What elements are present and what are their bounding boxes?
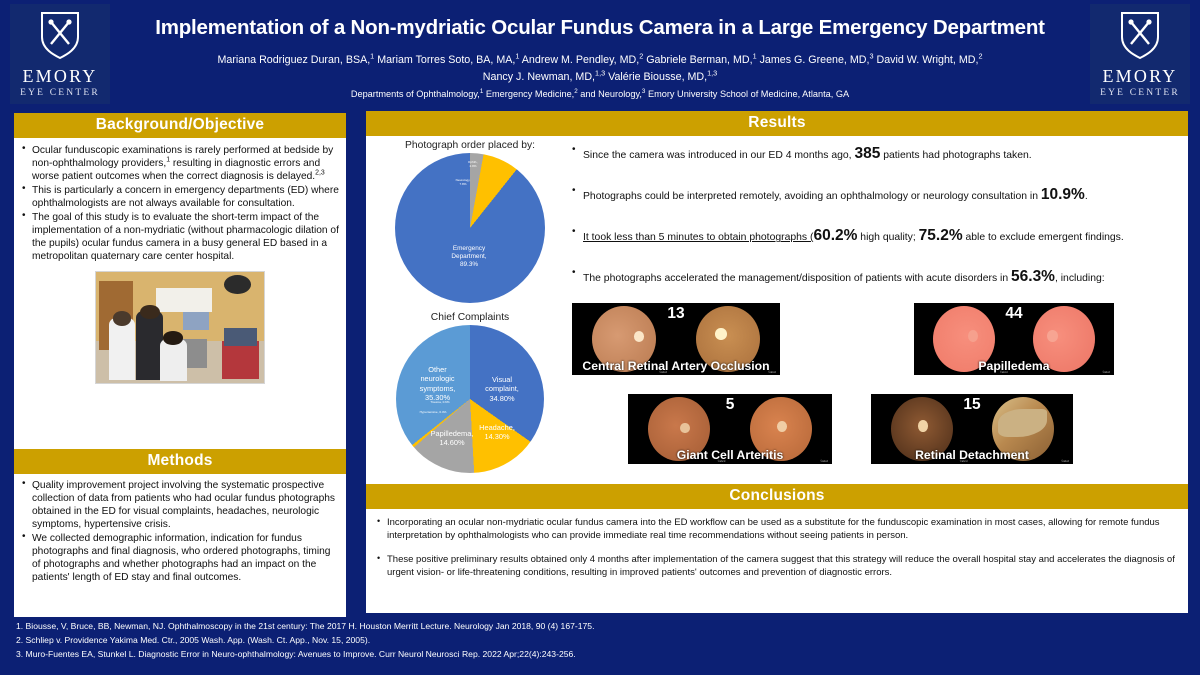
list-item: Photographs could be interpreted remotel… bbox=[570, 185, 1180, 205]
poster-departments: Departments of Ophthalmology,1 Emergency… bbox=[120, 89, 1080, 99]
result-2-post: . bbox=[1085, 191, 1088, 202]
background-bullet-list: Ocular funduscopic examinations is rarel… bbox=[21, 144, 339, 263]
fundus-count-rd: 15 bbox=[871, 396, 1073, 414]
poster-root: EMORY EYE CENTER EMORY EYE CENTER Implem… bbox=[0, 0, 1200, 675]
pie-chart-chief-complaints: Visualcomplaint,34.80% Otherneurologicsy… bbox=[396, 325, 544, 473]
fundus-label-rd: Retinal Detachment bbox=[871, 448, 1073, 462]
reference-item: 3. Muro-Fuentes EA, Stunkel L. Diagnosti… bbox=[16, 648, 916, 662]
list-item: These positive preliminary results obtai… bbox=[375, 553, 1179, 579]
results-bullet-list: Since the camera was introduced in our E… bbox=[570, 144, 1180, 309]
fundus-card-crao: 13 Central Retinal Artery Occlusion ©abc… bbox=[572, 303, 780, 375]
poster-authors: Mariana Rodriguez Duran, BSA,1 Mariam To… bbox=[120, 52, 1080, 85]
clinical-room-photo bbox=[95, 271, 265, 384]
pie-chart-1-title: Photograph order placed by: bbox=[372, 140, 568, 151]
list-item: Since the camera was introduced in our E… bbox=[570, 144, 1180, 164]
result-2-pre: Photographs could be interpreted remotel… bbox=[583, 191, 1041, 202]
conclusions-body: Incorporating an ocular non-mydriatic oc… bbox=[366, 509, 1188, 613]
pie-chart-order-placed-by: EmergencyDepartment,89.3% Neurology,7.8%… bbox=[395, 153, 545, 303]
list-item: This is particularly a concern in emerge… bbox=[21, 184, 339, 210]
fundus-label-crao: Central Retinal Artery Occlusion bbox=[572, 359, 780, 373]
result-3-mid: high quality; bbox=[857, 232, 918, 243]
result-3-post: able to exclude emergent findings. bbox=[963, 232, 1124, 243]
background-panel: Background/Objective Ocular funduscopic … bbox=[14, 113, 346, 455]
results-body: Photograph order placed by: EmergencyDep… bbox=[366, 136, 1188, 498]
references-block: 1. Biousse, V, Bruce, BB, Newman, NJ. Op… bbox=[16, 620, 916, 662]
fundus-card-gca: 5 Giant Cell Arteritis ©abcd©abcd bbox=[628, 394, 832, 464]
emory-logo-left: EMORY EYE CENTER bbox=[10, 4, 110, 104]
fundus-card-retinal-detachment: 15 Retinal Detachment ©abcd©abcd bbox=[871, 394, 1073, 464]
poster-title: Implementation of a Non-mydriatic Ocular… bbox=[120, 16, 1080, 40]
emory-shield-icon bbox=[39, 10, 81, 60]
authors-line-2: Nancy J. Newman, MD,1,3 Valérie Biousse,… bbox=[120, 69, 1080, 86]
list-item: The goal of this study is to evaluate th… bbox=[21, 211, 339, 263]
methods-panel: Methods Quality improvement project invo… bbox=[14, 449, 346, 617]
background-body: Ocular funduscopic examinations is rarel… bbox=[14, 138, 346, 455]
fundus-label-gca: Giant Cell Arteritis bbox=[628, 448, 832, 462]
emory-wordmark-right: EMORY bbox=[1102, 67, 1177, 85]
methods-bullet-list: Quality improvement project involving th… bbox=[21, 479, 339, 584]
emory-shield-icon-right bbox=[1119, 10, 1161, 60]
result-1-post: patients had photographs taken. bbox=[880, 150, 1031, 161]
poster-header: EMORY EYE CENTER EMORY EYE CENTER Implem… bbox=[0, 0, 1200, 110]
list-item: We collected demographic information, in… bbox=[21, 532, 339, 584]
pie-charts-column: Photograph order placed by: EmergencyDep… bbox=[372, 140, 568, 473]
result-4-value: 56.3% bbox=[1011, 268, 1055, 285]
reference-item: 2. Schliep v. Providence Yakima Med. Ctr… bbox=[16, 634, 916, 648]
reference-item: 1. Biousse, V, Bruce, BB, Newman, NJ. Op… bbox=[16, 620, 916, 634]
emory-wordmark-left: EMORY bbox=[22, 67, 97, 85]
conclusions-bullet-list: Incorporating an ocular non-mydriatic oc… bbox=[375, 516, 1179, 579]
result-2-value: 10.9% bbox=[1041, 186, 1085, 203]
result-4-post: , including: bbox=[1055, 273, 1105, 284]
methods-body: Quality improvement project involving th… bbox=[14, 474, 346, 617]
fundus-card-papilledema: 44 Papilledema ©abcd©abcd bbox=[914, 303, 1114, 375]
fundus-count-crao: 13 bbox=[572, 305, 780, 323]
pie-1-graphic bbox=[395, 153, 545, 303]
results-heading: Results bbox=[366, 111, 1188, 136]
results-panel: Results Photograph order placed by: Emer… bbox=[366, 111, 1188, 498]
result-1-value: 385 bbox=[854, 145, 880, 162]
conclusions-heading: Conclusions bbox=[366, 484, 1188, 509]
fundus-count-papilledema: 44 bbox=[914, 305, 1114, 323]
pie-2-graphic bbox=[396, 325, 544, 473]
pie-chart-2-title: Chief Complaints bbox=[372, 312, 568, 323]
fundus-label-papilledema: Papilledema bbox=[914, 359, 1114, 373]
list-item: The photographs accelerated the manageme… bbox=[570, 267, 1180, 287]
result-3-pre: It took less than 5 minutes to obtain ph… bbox=[583, 232, 813, 243]
emory-logo-right: EMORY EYE CENTER bbox=[1090, 4, 1190, 104]
list-item: Ocular funduscopic examinations is rarel… bbox=[21, 144, 339, 183]
result-4-pre: The photographs accelerated the manageme… bbox=[583, 273, 1011, 284]
list-item: Quality improvement project involving th… bbox=[21, 479, 339, 531]
emory-subtitle-right: EYE CENTER bbox=[1100, 89, 1180, 99]
background-heading: Background/Objective bbox=[14, 113, 346, 138]
fundus-count-gca: 5 bbox=[628, 396, 832, 414]
conclusions-panel: Conclusions Incorporating an ocular non-… bbox=[366, 484, 1188, 613]
result-3-value-b: 75.2% bbox=[919, 227, 963, 244]
list-item: It took less than 5 minutes to obtain ph… bbox=[570, 226, 1180, 246]
result-1-pre: Since the camera was introduced in our E… bbox=[583, 150, 854, 161]
list-item: Incorporating an ocular non-mydriatic oc… bbox=[375, 516, 1179, 542]
result-3-value-a: 60.2% bbox=[813, 227, 857, 244]
emory-subtitle-left: EYE CENTER bbox=[20, 89, 100, 99]
methods-heading: Methods bbox=[14, 449, 346, 474]
authors-line-1: Mariana Rodriguez Duran, BSA,1 Mariam To… bbox=[120, 52, 1080, 69]
